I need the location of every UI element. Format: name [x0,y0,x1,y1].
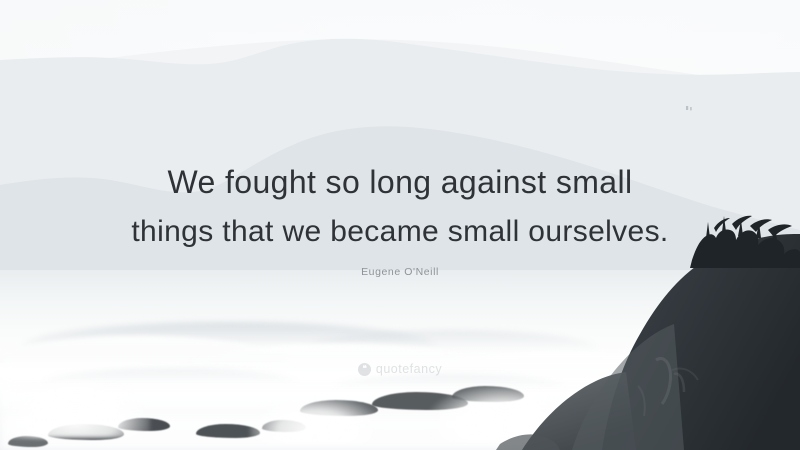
quote-mark-icon: ❝ [358,363,371,376]
quote-mark-glyph: ❝ [363,365,367,373]
rocky-headland [460,160,800,450]
sea-spray-left [0,378,150,438]
watermark: ❝ quotefancy [0,362,800,376]
sea-spray-mid [250,396,380,444]
quote-image-canvas: We fought so long against small things t… [0,0,800,450]
watermark-text: quotefancy [376,362,442,376]
